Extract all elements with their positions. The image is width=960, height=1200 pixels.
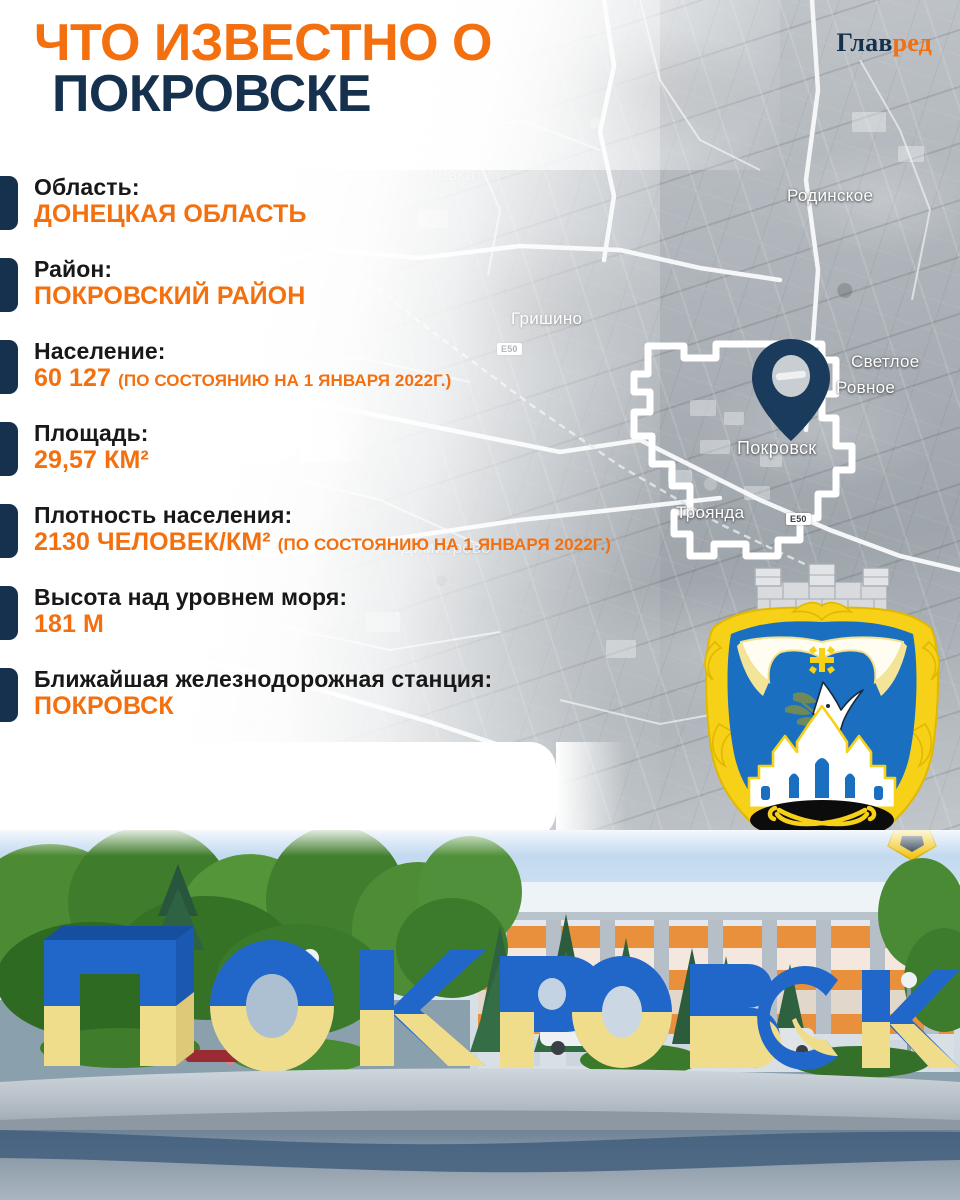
bullet-marker [0, 258, 18, 312]
fact-label: Высота над уровнем моря: [34, 584, 760, 610]
fact-value-note: (ПО СОСТОЯНИЮ НА 1 ЯНВАРЯ 2022Г.) [278, 535, 611, 554]
infographic-canvas: Василевка Родинское Гришино Светлое Ровн… [0, 0, 960, 1200]
title-line-1: ЧТО ИЗВЕСТНО О [34, 18, 492, 69]
fact-value: ПОКРОВСКИЙ РАЙОН [34, 282, 760, 311]
fact-row-oblast: Область: ДОНЕЦКАЯ ОБЛАСТЬ [0, 174, 760, 236]
concrete-base [0, 1069, 960, 1137]
fact-row-rayon: Район: ПОКРОВСКИЙ РАЙОН [0, 256, 760, 318]
bullet-marker [0, 668, 18, 722]
fact-value: 181 М [34, 610, 760, 639]
gold-cross-icon [809, 646, 835, 674]
fact-value-main: 29,57 КМ² [34, 446, 149, 474]
brand-logo-part-2: ред [893, 28, 932, 57]
fact-row-population: Население: 60 127 (ПО СОСТОЯНИЮ НА 1 ЯНВ… [0, 338, 760, 400]
fact-label: Ближайшая железнодорожная станция: [34, 666, 760, 692]
fact-label: Область: [34, 174, 760, 200]
map-label-svetloe: Светлое [851, 352, 920, 372]
map-pin-icon [748, 336, 834, 449]
fact-value: 29,57 КМ² [34, 446, 760, 475]
fact-value-main: 181 М [34, 610, 104, 638]
foreground-wall [0, 1130, 960, 1200]
fact-value-main: ДОНЕЦКАЯ ОБЛАСТЬ [34, 200, 307, 228]
coat-of-arms-pokrovsk [697, 556, 947, 868]
bullet-marker [0, 586, 18, 640]
fact-value-note: (ПО СОСТОЯНИЮ НА 1 ЯНВАРЯ 2022Г.) [118, 371, 451, 390]
fact-value-main: ПОКРОВСК [34, 692, 174, 720]
title-line-2: ПОКРОВСКЕ [52, 69, 492, 120]
fact-row-elevation: Высота над уровнем моря: 181 М [0, 584, 760, 646]
fact-value: 2130 ЧЕЛОВЕК/КМ² (ПО СОСТОЯНИЮ НА 1 ЯНВА… [34, 528, 760, 557]
fact-label: Площадь: [34, 420, 760, 446]
bullet-marker [0, 422, 18, 476]
fact-row-area: Площадь: 29,57 КМ² [0, 420, 760, 482]
fact-list: Область: ДОНЕЦКАЯ ОБЛАСТЬ Район: ПОКРОВС… [0, 174, 760, 748]
fact-value-main: 2130 ЧЕЛОВЕК/КМ² [34, 528, 271, 556]
fact-value: ДОНЕЦКАЯ ОБЛАСТЬ [34, 200, 760, 229]
fact-value-main: 60 127 [34, 364, 111, 392]
pokrovsk-city-sign-photo [0, 830, 960, 1200]
fact-label: Население: [34, 338, 760, 364]
fact-value: ПОКРОВСК [34, 692, 760, 721]
brand-logo-glavred[interactable]: Главред [837, 28, 932, 58]
fact-row-density: Плотность населения: 2130 ЧЕЛОВЕК/КМ² (П… [0, 502, 760, 564]
fact-value: 60 127 (ПО СОСТОЯНИЮ НА 1 ЯНВАРЯ 2022Г.) [34, 364, 760, 393]
fact-row-railway-station: Ближайшая железнодорожная станция: ПОКРО… [0, 666, 760, 728]
map-label-rodinskoe: Родинское [787, 186, 873, 206]
road-shield-e50-south: E50 [786, 513, 811, 525]
fact-label: Плотность населения: [34, 502, 760, 528]
bullet-marker [0, 504, 18, 558]
map-label-rovnoe: Ровное [836, 378, 895, 398]
bullet-marker [0, 176, 18, 230]
brand-logo-part-1: Глав [837, 28, 893, 57]
page-title: ЧТО ИЗВЕСТНО О ПОКРОВСКЕ [34, 18, 492, 120]
bullet-marker [0, 340, 18, 394]
fact-value-main: ПОКРОВСКИЙ РАЙОН [34, 282, 305, 310]
fact-label: Район: [34, 256, 760, 282]
